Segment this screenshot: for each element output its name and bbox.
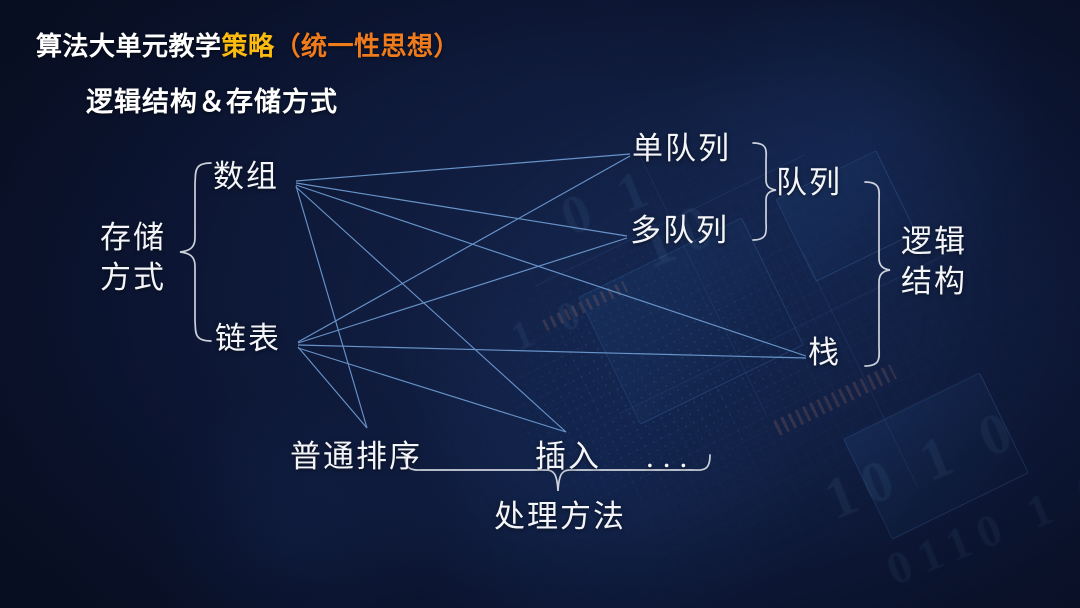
logic-structure-brace [865, 182, 890, 366]
link-array-insert [296, 187, 566, 432]
queue-brace [753, 143, 776, 240]
storage-brace [180, 163, 211, 341]
node-storage-method-line1: 存储 [100, 218, 166, 258]
node-ellipsis[interactable]: ... [646, 440, 696, 475]
node-insert[interactable]: 插入 [535, 440, 601, 475]
node-linked-list[interactable]: 链表 [215, 322, 281, 357]
link-list-single-queue [298, 156, 630, 342]
node-storage-method[interactable]: 存储 方式 [100, 218, 166, 297]
link-array-multi-queue [296, 183, 627, 236]
node-logic-structure[interactable]: 逻辑 结构 [901, 222, 967, 301]
link-list-insert [298, 348, 566, 432]
link-array-single-queue [296, 154, 630, 181]
node-multi-queue[interactable]: 多队列 [630, 214, 729, 249]
link-array-stack [296, 185, 806, 356]
node-single-queue[interactable]: 单队列 [632, 132, 731, 167]
node-processing-method[interactable]: 处理方法 [494, 500, 626, 535]
node-stack[interactable]: 栈 [808, 336, 841, 371]
link-array-sort [296, 186, 367, 428]
link-list-multi-queue [298, 238, 627, 343]
node-queue[interactable]: 队列 [776, 166, 842, 201]
link-list-stack [298, 345, 806, 358]
node-array[interactable]: 数组 [213, 160, 279, 195]
slide-canvas: 0 1 10 10 1 0 0110 1 0 1 0 算法大单元教学策略（统一性… [0, 0, 1080, 608]
link-group [296, 154, 806, 432]
node-logic-structure-line2: 结构 [901, 262, 967, 302]
node-normal-sort[interactable]: 普通排序 [290, 440, 422, 475]
node-logic-structure-line1: 逻辑 [901, 222, 967, 262]
node-storage-method-line2: 方式 [100, 258, 166, 298]
